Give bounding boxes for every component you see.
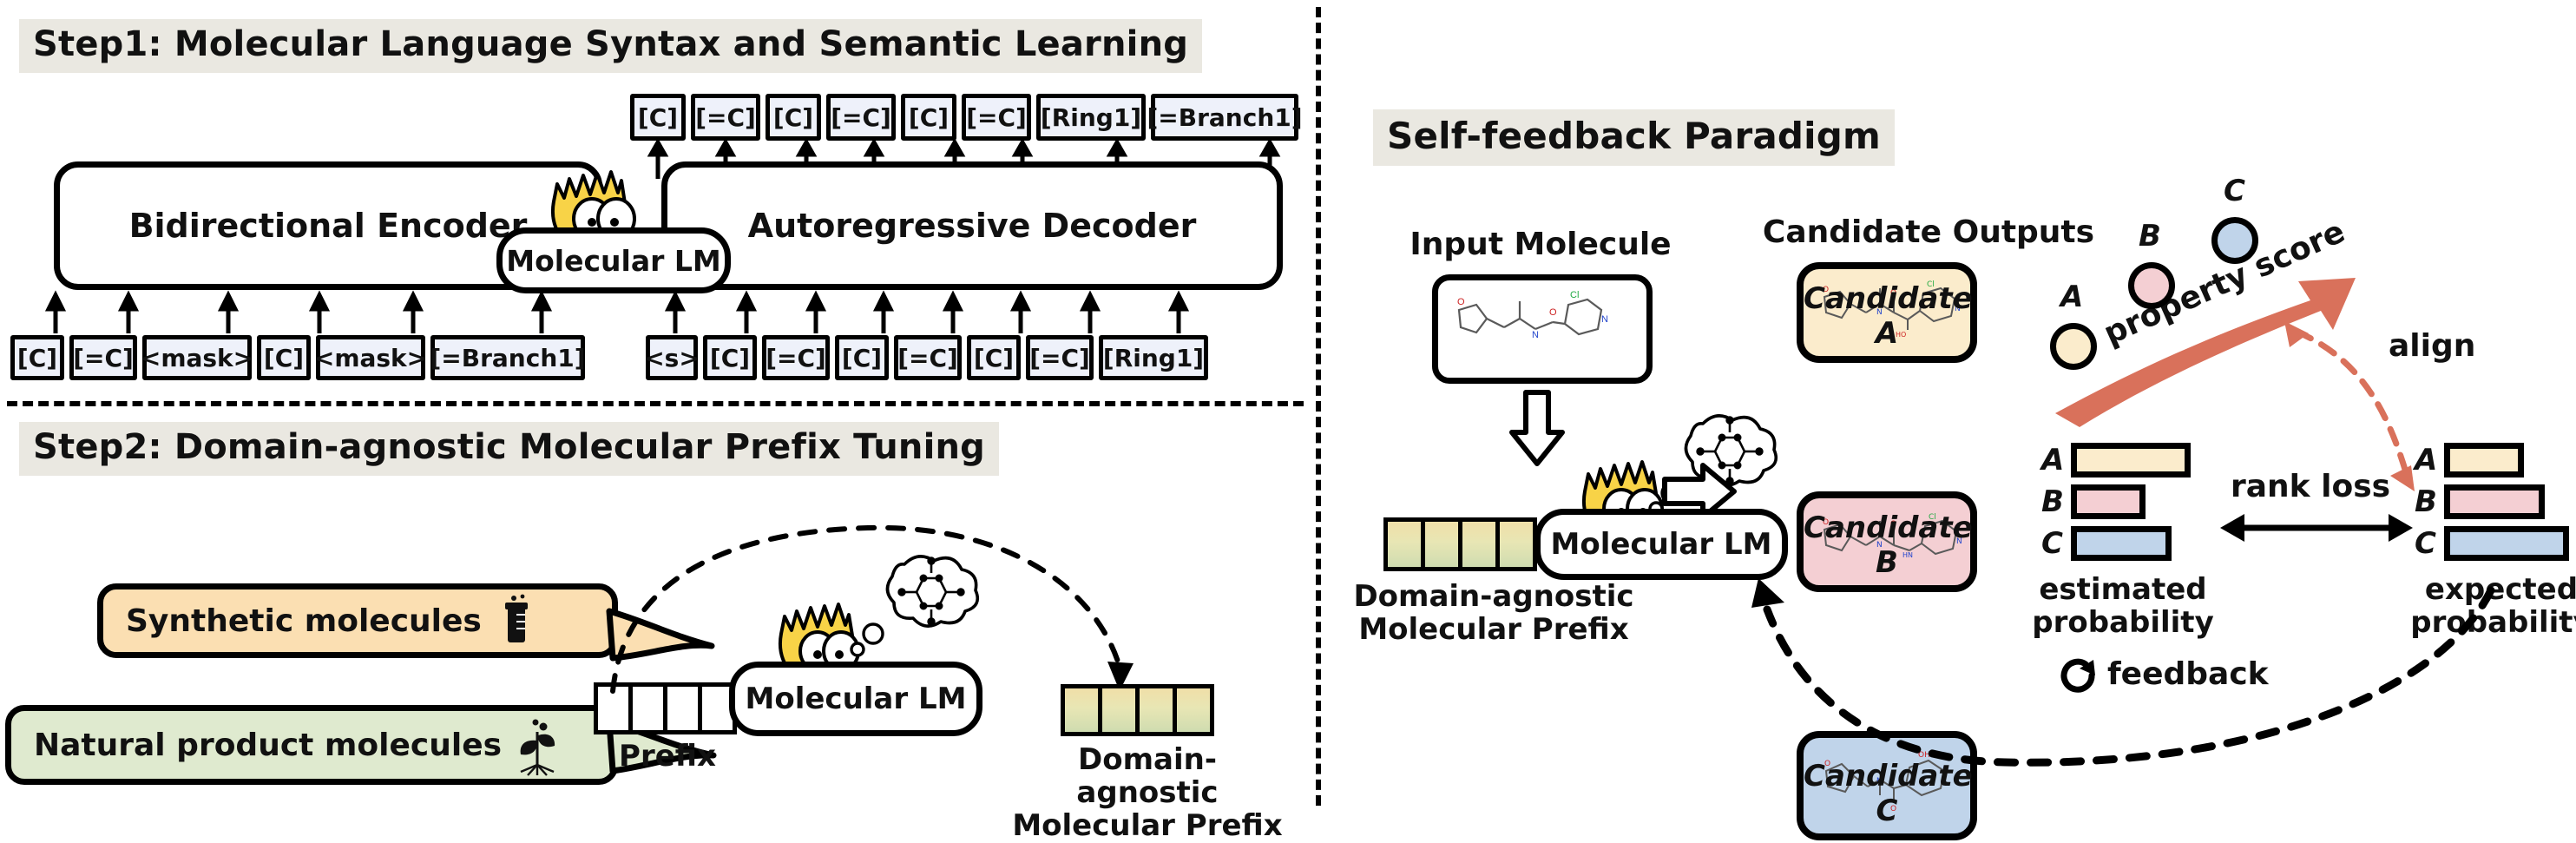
decoder-input-token[interactable]: [C]: [835, 335, 889, 380]
encoder-input-token[interactable]: [=C]: [69, 335, 137, 380]
feedback-label: feedback: [2107, 656, 2269, 692]
synthetic-molecules-label: Synthetic molecules: [126, 603, 482, 639]
input-molecule-box: O N O Cl N: [1432, 274, 1653, 384]
rank-loss-label: rank loss: [2231, 469, 2390, 504]
output-token[interactable]: [=Branch1]: [1151, 94, 1298, 141]
bidirectional-encoder-label: Bidirectional Encoder: [129, 207, 528, 245]
encoder-input-token-row: [C] [=C] <mask> [C] <mask> [=Branch1]: [10, 335, 585, 380]
decoder-input-token[interactable]: [=C]: [1026, 335, 1094, 380]
encoder-input-token[interactable]: [C]: [257, 335, 311, 380]
decoder-output-token-row: [C] [=C] [C] [=C] [C] [=C] [Ring1] [=Bra…: [630, 94, 1298, 141]
align-label: align: [2389, 328, 2475, 364]
output-token[interactable]: [C]: [766, 94, 821, 141]
step2-title: Step2: Domain-agnostic Molecular Prefix …: [19, 422, 999, 476]
output-token[interactable]: [=C]: [691, 94, 760, 141]
prefix-cell[interactable]: [1458, 517, 1500, 571]
output-token[interactable]: [=C]: [826, 94, 896, 141]
prefix-cell[interactable]: [1495, 517, 1537, 571]
domain-agnostic-prefix-caption: Domain-agnostic Molecular Prefix: [1009, 743, 1286, 842]
estimated-bar-a: [2071, 443, 2191, 477]
encoder-input-token[interactable]: [=Branch1]: [430, 335, 585, 380]
scatter-point-c: [2211, 217, 2258, 264]
decoder-input-arrows: [646, 295, 1288, 335]
expected-bar-c: [2444, 526, 2569, 561]
natural-product-label: Natural product molecules: [34, 728, 502, 763]
bar-label-a: A: [2415, 443, 2444, 477]
decoder-input-token-row: <s> [C] [=C] [C] [=C] [C] [=C] [Ring1]: [646, 335, 1208, 380]
svg-text:O: O: [1549, 307, 1557, 318]
expected-bar-b: [2444, 484, 2545, 519]
decoder-input-token[interactable]: [C]: [967, 335, 1021, 380]
bar-label-b: B: [2041, 484, 2071, 519]
self-feedback-title: Self-feedback Paradigm: [1373, 109, 1895, 166]
svg-text:Cl: Cl: [1570, 290, 1579, 300]
scatter-point-a: [2050, 323, 2097, 370]
refresh-icon: [2059, 656, 2099, 696]
molecular-lm-label: Molecular LM: [506, 244, 720, 278]
svg-text:O: O: [1457, 297, 1465, 307]
molecular-lm-pill-step1[interactable]: Molecular LM: [496, 227, 731, 293]
output-token[interactable]: [Ring1]: [1036, 94, 1146, 141]
svg-text:N: N: [1601, 314, 1608, 325]
bar-label-c: C: [2041, 526, 2071, 561]
output-token[interactable]: [=C]: [962, 94, 1031, 141]
output-token[interactable]: [C]: [901, 94, 956, 141]
decoder-input-token[interactable]: [C]: [703, 335, 757, 380]
encoder-input-arrows: [33, 295, 623, 335]
molecular-lm-label: Molecular LM: [1551, 527, 1772, 562]
encoder-input-token[interactable]: [C]: [10, 335, 64, 380]
plant-icon: [514, 715, 561, 775]
right-prefix-cells: [1383, 517, 1537, 571]
natural-product-bubble[interactable]: Natural product molecules: [5, 705, 618, 785]
scatter-label-a: A: [2060, 280, 2083, 314]
candidate-a-label: Candidate A: [1804, 281, 1970, 351]
decoder-input-token[interactable]: <s>: [646, 335, 698, 380]
step-divider: [7, 401, 1304, 406]
decoder-input-token[interactable]: [=C]: [894, 335, 962, 380]
encoder-input-token[interactable]: <mask>: [142, 335, 252, 380]
input-to-model-arrow: [1507, 392, 1567, 465]
prefix-cell[interactable]: [1383, 517, 1425, 571]
expected-probability-chart: A B C: [2415, 441, 2569, 563]
encoder-input-token[interactable]: <mask>: [316, 335, 425, 380]
output-token[interactable]: [C]: [630, 94, 686, 141]
decoder-input-token[interactable]: [=C]: [762, 335, 830, 380]
synthetic-molecules-bubble[interactable]: Synthetic molecules: [97, 583, 618, 658]
step1-title: Step1: Molecular Language Syntax and Sem…: [19, 19, 1202, 73]
prefix-cell[interactable]: [1061, 684, 1102, 736]
prefix-caption: Prefix: [585, 740, 750, 773]
estimated-bar-b: [2071, 484, 2146, 519]
bar-label-a: A: [2041, 443, 2071, 477]
autoregressive-decoder-label: Autoregressive Decoder: [748, 207, 1197, 245]
decoder-input-token[interactable]: [Ring1]: [1099, 335, 1208, 380]
scatter-label-b: B: [2139, 219, 2161, 254]
bar-label-b: B: [2415, 484, 2444, 519]
beaker-icon: [496, 594, 536, 648]
panel-divider: [1316, 7, 1321, 806]
svg-text:N: N: [1532, 330, 1539, 340]
prefix-cell[interactable]: [1421, 517, 1462, 571]
estimated-bar-c: [2071, 526, 2172, 561]
prefix-cell[interactable]: [1098, 684, 1140, 736]
right-prefix-caption: Domain-agnostic Molecular Prefix: [1350, 580, 1637, 646]
prefix-cell[interactable]: [1135, 684, 1177, 736]
scatter-label-c: C: [2224, 174, 2245, 208]
figure-canvas: Step1: Molecular Language Syntax and Sem…: [0, 0, 2576, 813]
bar-label-c: C: [2415, 526, 2444, 561]
autoregressive-decoder-box: Autoregressive Decoder: [661, 161, 1283, 290]
expected-bar-a: [2444, 443, 2524, 477]
domain-agnostic-prefix-cells: [1061, 684, 1214, 736]
input-molecule-label: Input Molecule: [1397, 227, 1684, 262]
scatter-point-b: [2128, 262, 2175, 309]
rank-loss-arrow: [2218, 509, 2415, 549]
prefix-cell[interactable]: [1173, 684, 1214, 736]
estimated-probability-chart: A B C: [2041, 441, 2191, 563]
candidate-a-box[interactable]: O N O HO Cl N Candidate A: [1797, 262, 1977, 363]
input-molecule-structure: O N O Cl N: [1438, 280, 1634, 366]
